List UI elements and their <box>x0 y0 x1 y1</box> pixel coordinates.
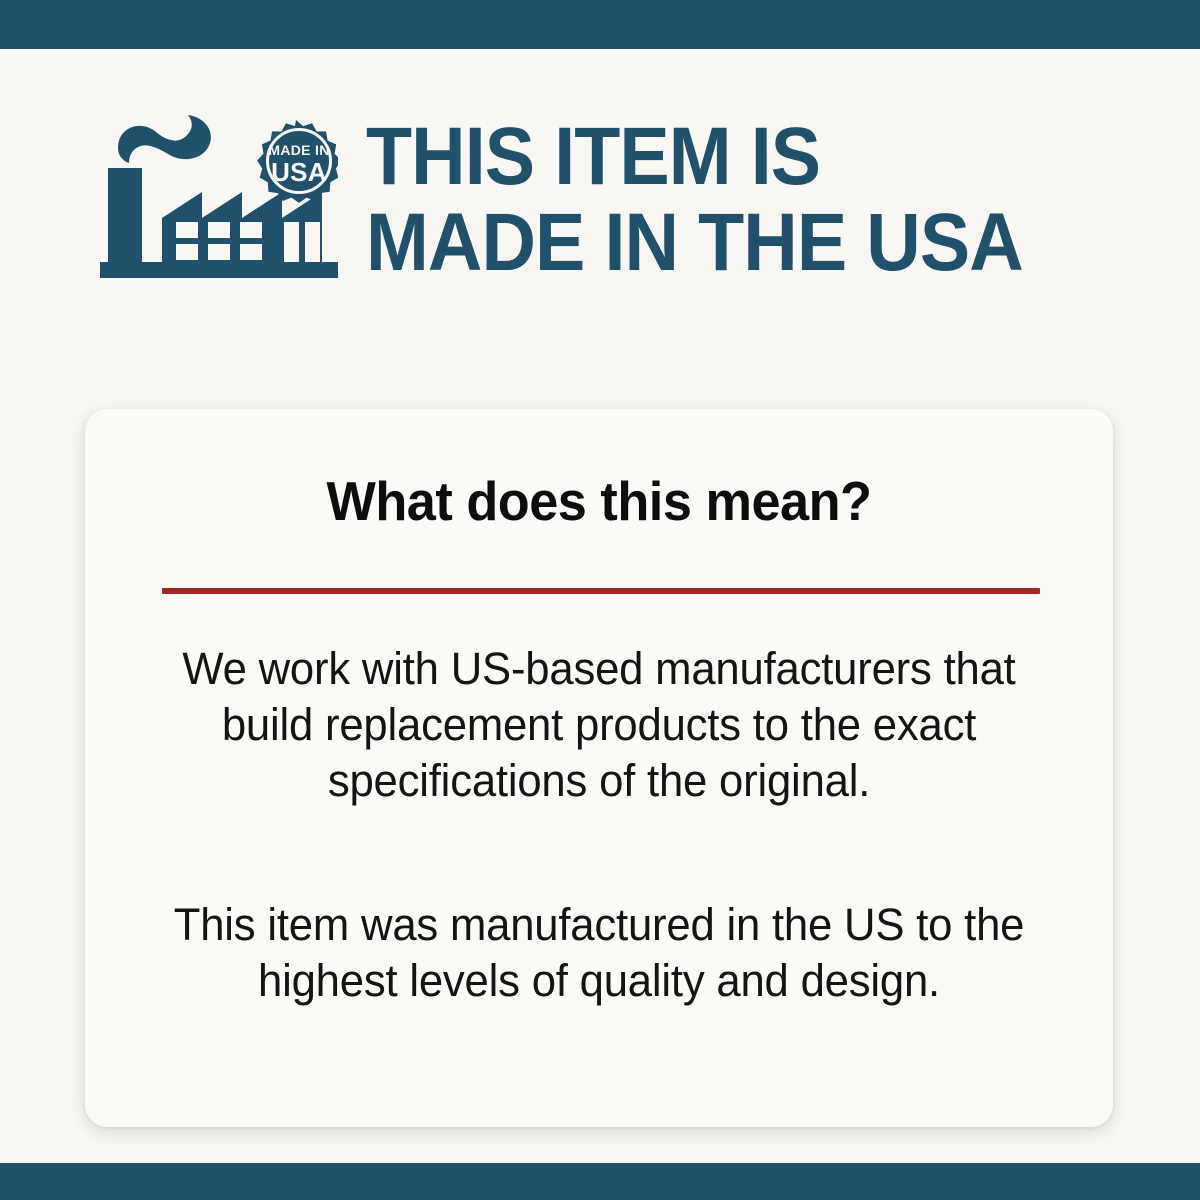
page-canvas: MADE IN USA THIS ITEM IS MADE IN THE USA… <box>0 49 1200 1163</box>
page-title-line-1: THIS ITEM IS <box>366 114 1096 200</box>
info-card: What does this mean? We work with US-bas… <box>85 409 1113 1127</box>
card-divider <box>162 588 1040 594</box>
card-paragraph-1: We work with US-based manufacturers that… <box>151 641 1047 809</box>
badge-line1: MADE IN <box>268 142 329 158</box>
badge-line2: USA <box>271 157 327 187</box>
page-title-line-2: MADE IN THE USA <box>366 200 1096 286</box>
factory-made-in-usa-icon: MADE IN USA <box>100 110 338 292</box>
top-brand-bar <box>0 0 1200 49</box>
card-heading: What does this mean? <box>111 471 1088 531</box>
card-paragraph-2: This item was manufactured in the US to … <box>151 897 1047 1009</box>
header: MADE IN USA THIS ITEM IS MADE IN THE USA <box>100 101 1160 301</box>
card-body: We work with US-based manufacturers that… <box>137 641 1061 1009</box>
page-title: THIS ITEM IS MADE IN THE USA <box>366 114 1160 288</box>
bottom-brand-bar <box>0 1163 1200 1200</box>
